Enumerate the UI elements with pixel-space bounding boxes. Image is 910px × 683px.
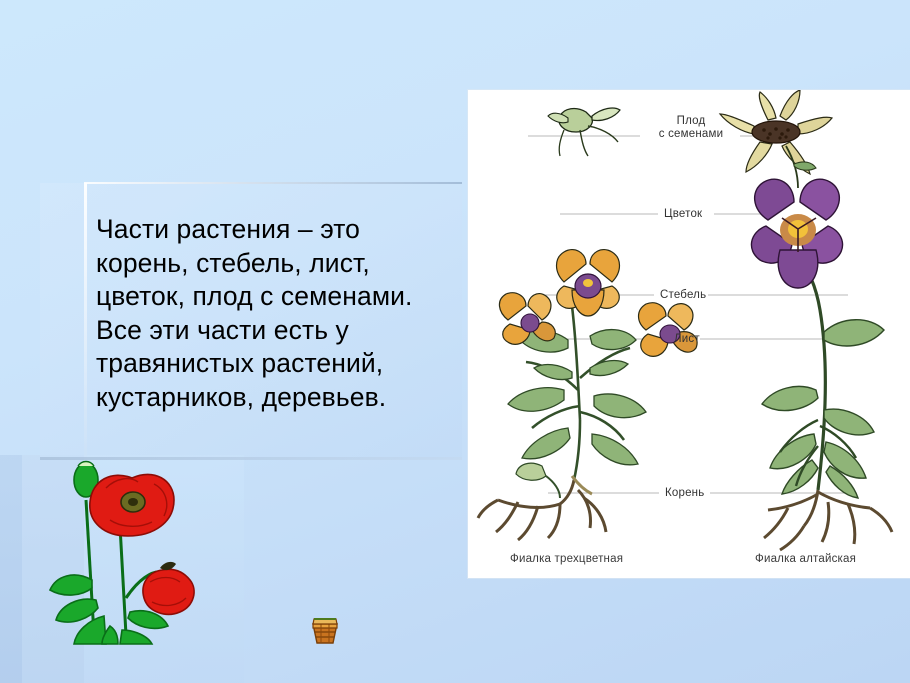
pansy-flower-top bbox=[557, 250, 620, 316]
label-flower: Цветок bbox=[664, 208, 702, 220]
label-fruit: Плод с семенами bbox=[646, 115, 736, 141]
slide-body-text: Части растения – это корень, стебель, ли… bbox=[96, 213, 478, 414]
label-fruit-line1: Плод bbox=[677, 115, 706, 127]
label-stem: Стебель bbox=[660, 289, 706, 301]
root-left bbox=[478, 480, 606, 540]
decor-band-left bbox=[0, 455, 22, 683]
pansy-flower-left bbox=[499, 293, 555, 345]
slide-canvas: Части растения – это корень, стебель, ли… bbox=[0, 0, 910, 683]
label-leaf: Лист bbox=[674, 333, 700, 345]
violet-flower bbox=[751, 179, 842, 288]
text-panel-top-edge bbox=[84, 182, 462, 184]
root-right bbox=[764, 490, 892, 550]
viola-altaica-plant bbox=[751, 179, 892, 550]
label-root: Корень bbox=[665, 487, 704, 499]
caption-viola-altaica: Фиалка алтайская bbox=[755, 553, 856, 565]
text-panel-left-edge bbox=[84, 183, 87, 459]
fruit-pod-left bbox=[548, 108, 620, 156]
label-fruit-line2: с семенами bbox=[659, 128, 723, 140]
pansy-flower-right bbox=[639, 303, 698, 357]
fruit-with-seeds bbox=[720, 90, 832, 188]
basket-icon bbox=[308, 613, 342, 647]
figure-panel: Плод с семенами Цветок Стебель Лист Коре… bbox=[468, 90, 910, 578]
caption-viola-tricolor: Фиалка трехцветная bbox=[510, 553, 623, 565]
poppy-plant-illustration bbox=[34, 430, 214, 645]
